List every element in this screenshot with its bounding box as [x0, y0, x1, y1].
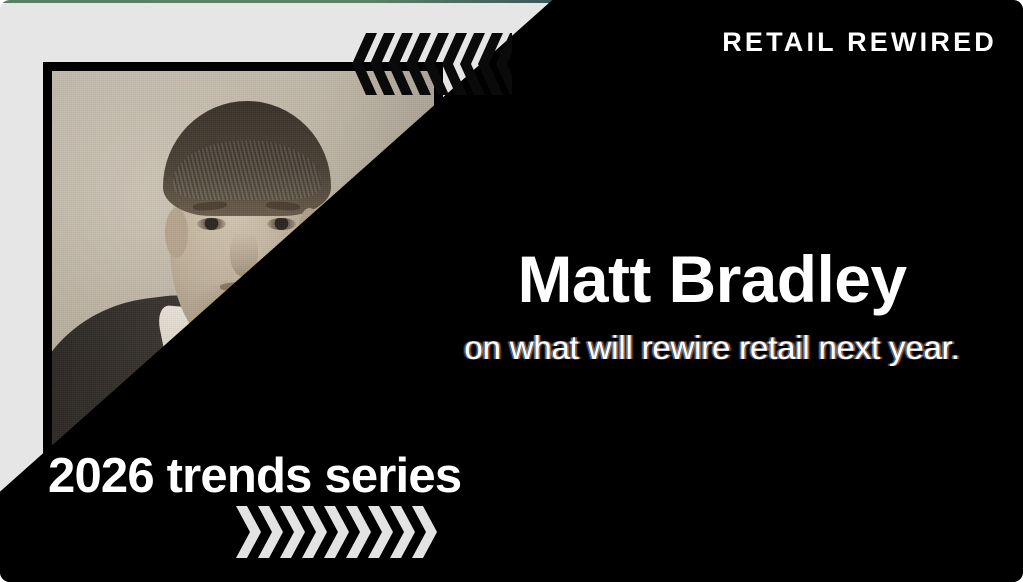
brand-logo: RETAIL REWIRED [722, 27, 997, 58]
series-label: 2026 trends series [48, 452, 461, 501]
promo-card: RETAIL REWIRED Matt Bradley on what will… [0, 0, 1023, 582]
speaker-tagline: on what will rewire retail next year. [414, 330, 1010, 366]
speaker-name: Matt Bradley [414, 246, 1010, 312]
